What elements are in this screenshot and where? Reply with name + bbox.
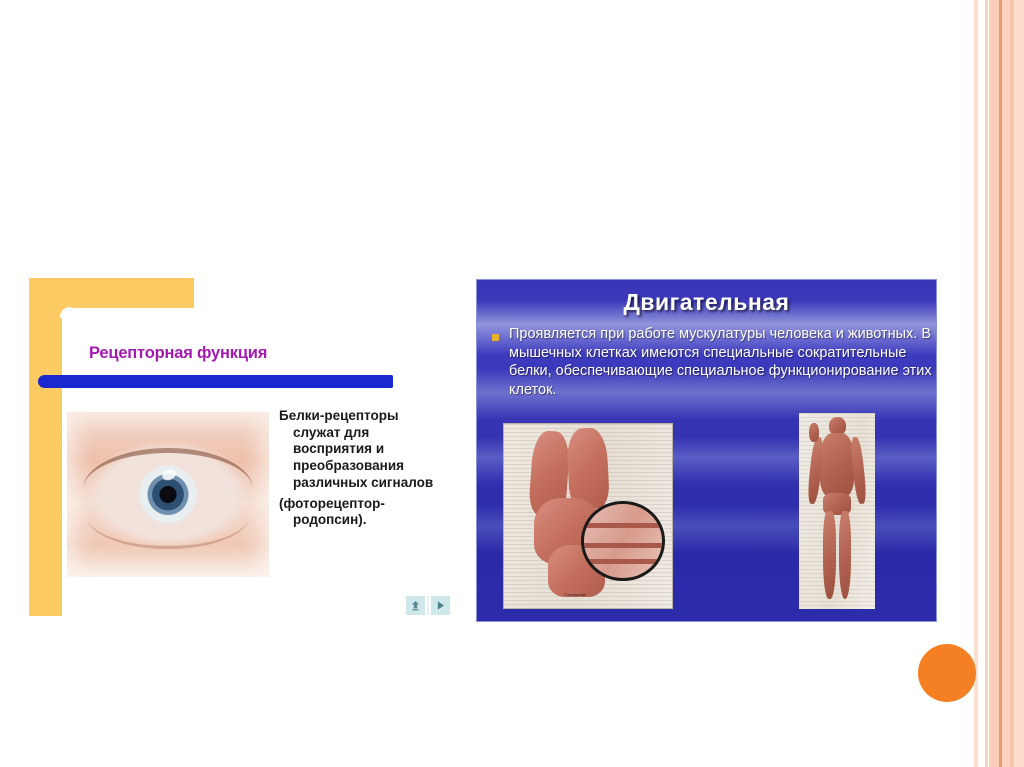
bullet-square-icon	[492, 334, 499, 341]
figure-left-leg	[823, 511, 836, 599]
muscle-fiber-1	[581, 523, 664, 528]
yellow-frame-vertical-bar	[29, 278, 62, 616]
eye-lower-lid	[87, 516, 249, 549]
eye-photo-image	[67, 412, 269, 577]
left-body-paragraph-1: Белки-рецепторы служат для восприятия и …	[279, 408, 449, 492]
right-slide: Двигательная Проявляется при работе муск…	[476, 279, 937, 622]
edge-stripe-decoration	[960, 0, 1024, 767]
yellow-frame-inner-corner	[55, 302, 71, 318]
muscle-figure-caption: Сухожилие	[564, 592, 586, 597]
slide-page: Рецепторная функция Белки-рецепторы служ…	[0, 0, 1024, 767]
figure-raised-hand	[809, 423, 819, 443]
decor-stripe-5	[1002, 0, 1010, 767]
left-body-paragraph-2: (фоторецептор-родопсин).	[279, 496, 449, 529]
decor-stripe-7	[1014, 0, 1024, 767]
decor-stripe-1	[974, 0, 978, 767]
figure-head	[829, 417, 846, 435]
figure-torso	[820, 433, 855, 498]
orange-circle-decoration	[918, 644, 976, 702]
muscle-fiber-2	[581, 543, 664, 548]
left-slide-title: Рецепторная функция	[89, 344, 267, 363]
right-slide-bullet-text: Проявляется при работе мускулатуры челов…	[509, 325, 937, 399]
left-slide-body: Белки-рецепторы служат для восприятия и …	[279, 408, 449, 529]
slide-nav-buttons	[406, 596, 450, 615]
next-button[interactable]	[431, 596, 450, 615]
left-slide: Рецепторная функция Белки-рецепторы служ…	[29, 278, 449, 623]
nav-separator	[427, 596, 429, 615]
home-button[interactable]	[406, 596, 425, 615]
left-slide-accent-bar	[38, 375, 393, 388]
magnifier-circle-icon	[581, 501, 664, 581]
play-next-icon	[435, 600, 446, 611]
yellow-frame-horizontal-bar	[29, 278, 194, 308]
muscle-anatomy-image: Сухожилие	[503, 423, 673, 609]
home-up-icon	[410, 600, 421, 611]
muscular-system-figure-image	[799, 413, 875, 609]
figure-right-arm	[850, 436, 868, 503]
muscle-fiber-3	[581, 559, 664, 564]
right-slide-title: Двигательная	[477, 289, 936, 316]
decor-stripe-2	[985, 0, 988, 767]
figure-right-leg	[839, 511, 852, 599]
